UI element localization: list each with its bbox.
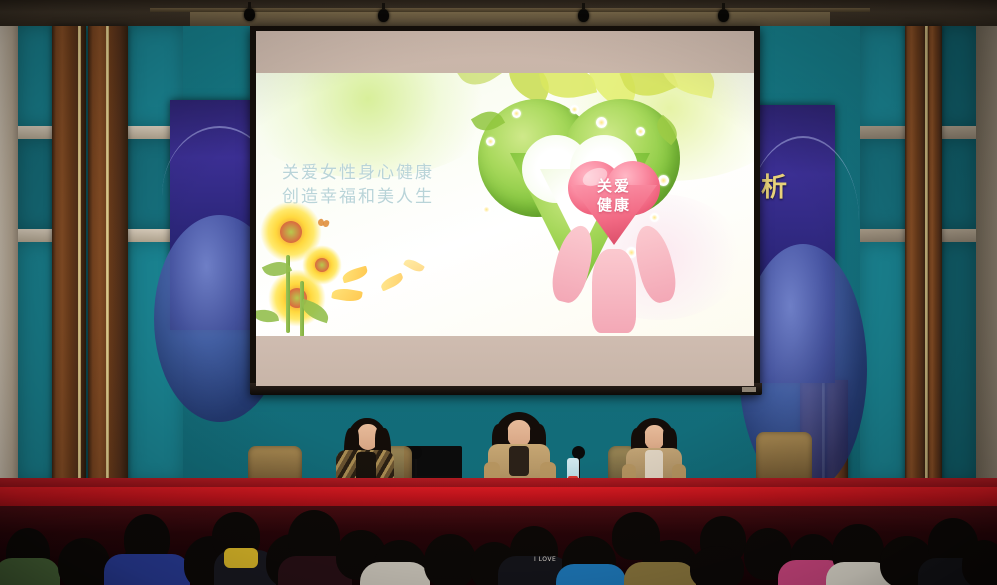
heart-label-line2: 健康 <box>568 196 660 215</box>
screen-top-band <box>256 31 754 73</box>
wall-trim-band <box>860 126 910 139</box>
spotlight-icon <box>718 9 729 22</box>
audience-head <box>690 546 744 585</box>
hand-graphic <box>592 249 636 333</box>
wood-column <box>928 26 942 486</box>
gold-trim-strip <box>78 26 81 486</box>
inner-top <box>509 446 529 476</box>
flower-icon <box>570 105 579 114</box>
audience-body <box>360 562 430 585</box>
auditorium-photo: 析 关爱女性身心健康 创造幸福和美人生 <box>0 0 997 585</box>
projection-screen: 关爱女性身心健康 创造幸福和美人生 <box>256 31 754 386</box>
flower-icon <box>636 127 645 136</box>
audience-shirt-text: I LOVE <box>534 556 556 563</box>
audience-head <box>962 540 997 585</box>
screen-bottom-band <box>256 336 754 386</box>
wall-right-edge <box>975 26 997 496</box>
pink-heart-graphic: 关爱 健康 <box>568 161 660 245</box>
slide-headline-line1: 关爱女性身心健康 <box>282 161 434 185</box>
butterfly-icon <box>318 219 328 227</box>
flying-petal <box>379 273 405 292</box>
spotlight-icon <box>378 9 389 22</box>
butterfly-wing <box>322 219 330 228</box>
wall-panel <box>940 242 976 482</box>
sunflower-center <box>280 221 302 243</box>
presentation-slide: 关爱女性身心健康 创造幸福和美人生 <box>256 73 754 336</box>
wall-panel <box>860 26 910 126</box>
right-banner-text: 析 <box>761 167 787 204</box>
audience-head <box>58 538 110 585</box>
empty-chair <box>756 432 812 484</box>
audience-body <box>556 564 626 585</box>
spotlight-icon <box>244 8 255 21</box>
flower-icon <box>596 117 607 128</box>
globe-arc <box>747 136 859 305</box>
audience-body <box>0 558 60 585</box>
wall-panel <box>940 139 976 229</box>
wall-trim-band <box>940 126 976 139</box>
audience-scarf <box>224 548 258 568</box>
wall-left-edge <box>0 26 20 496</box>
heart-label: 关爱 健康 <box>568 177 660 215</box>
flying-petal <box>341 266 369 284</box>
flying-petal <box>331 286 363 303</box>
wall-trim-band <box>860 229 910 242</box>
spotlight-icon <box>578 9 589 22</box>
audience-head <box>424 534 476 585</box>
face <box>644 425 665 450</box>
flower-icon <box>512 109 521 118</box>
audience-area: I LOVE <box>0 506 997 585</box>
flower-icon <box>486 137 495 146</box>
wall-panel <box>940 26 976 126</box>
wall-panel <box>860 242 910 482</box>
sunflower-center <box>315 258 329 272</box>
right-banner: 析 <box>755 105 835 383</box>
wood-column <box>905 26 927 486</box>
slide-headline: 关爱女性身心健康 创造幸福和美人生 <box>282 161 434 209</box>
wall-panel <box>860 139 910 229</box>
audience-body <box>104 554 190 585</box>
heart-label-line1: 关爱 <box>568 177 660 196</box>
flying-petal <box>403 257 425 275</box>
left-banner <box>170 100 252 330</box>
audience-body <box>624 562 696 585</box>
flower-icon <box>482 205 491 214</box>
gold-trim-strip <box>106 26 109 486</box>
wall-trim-band <box>940 229 976 242</box>
